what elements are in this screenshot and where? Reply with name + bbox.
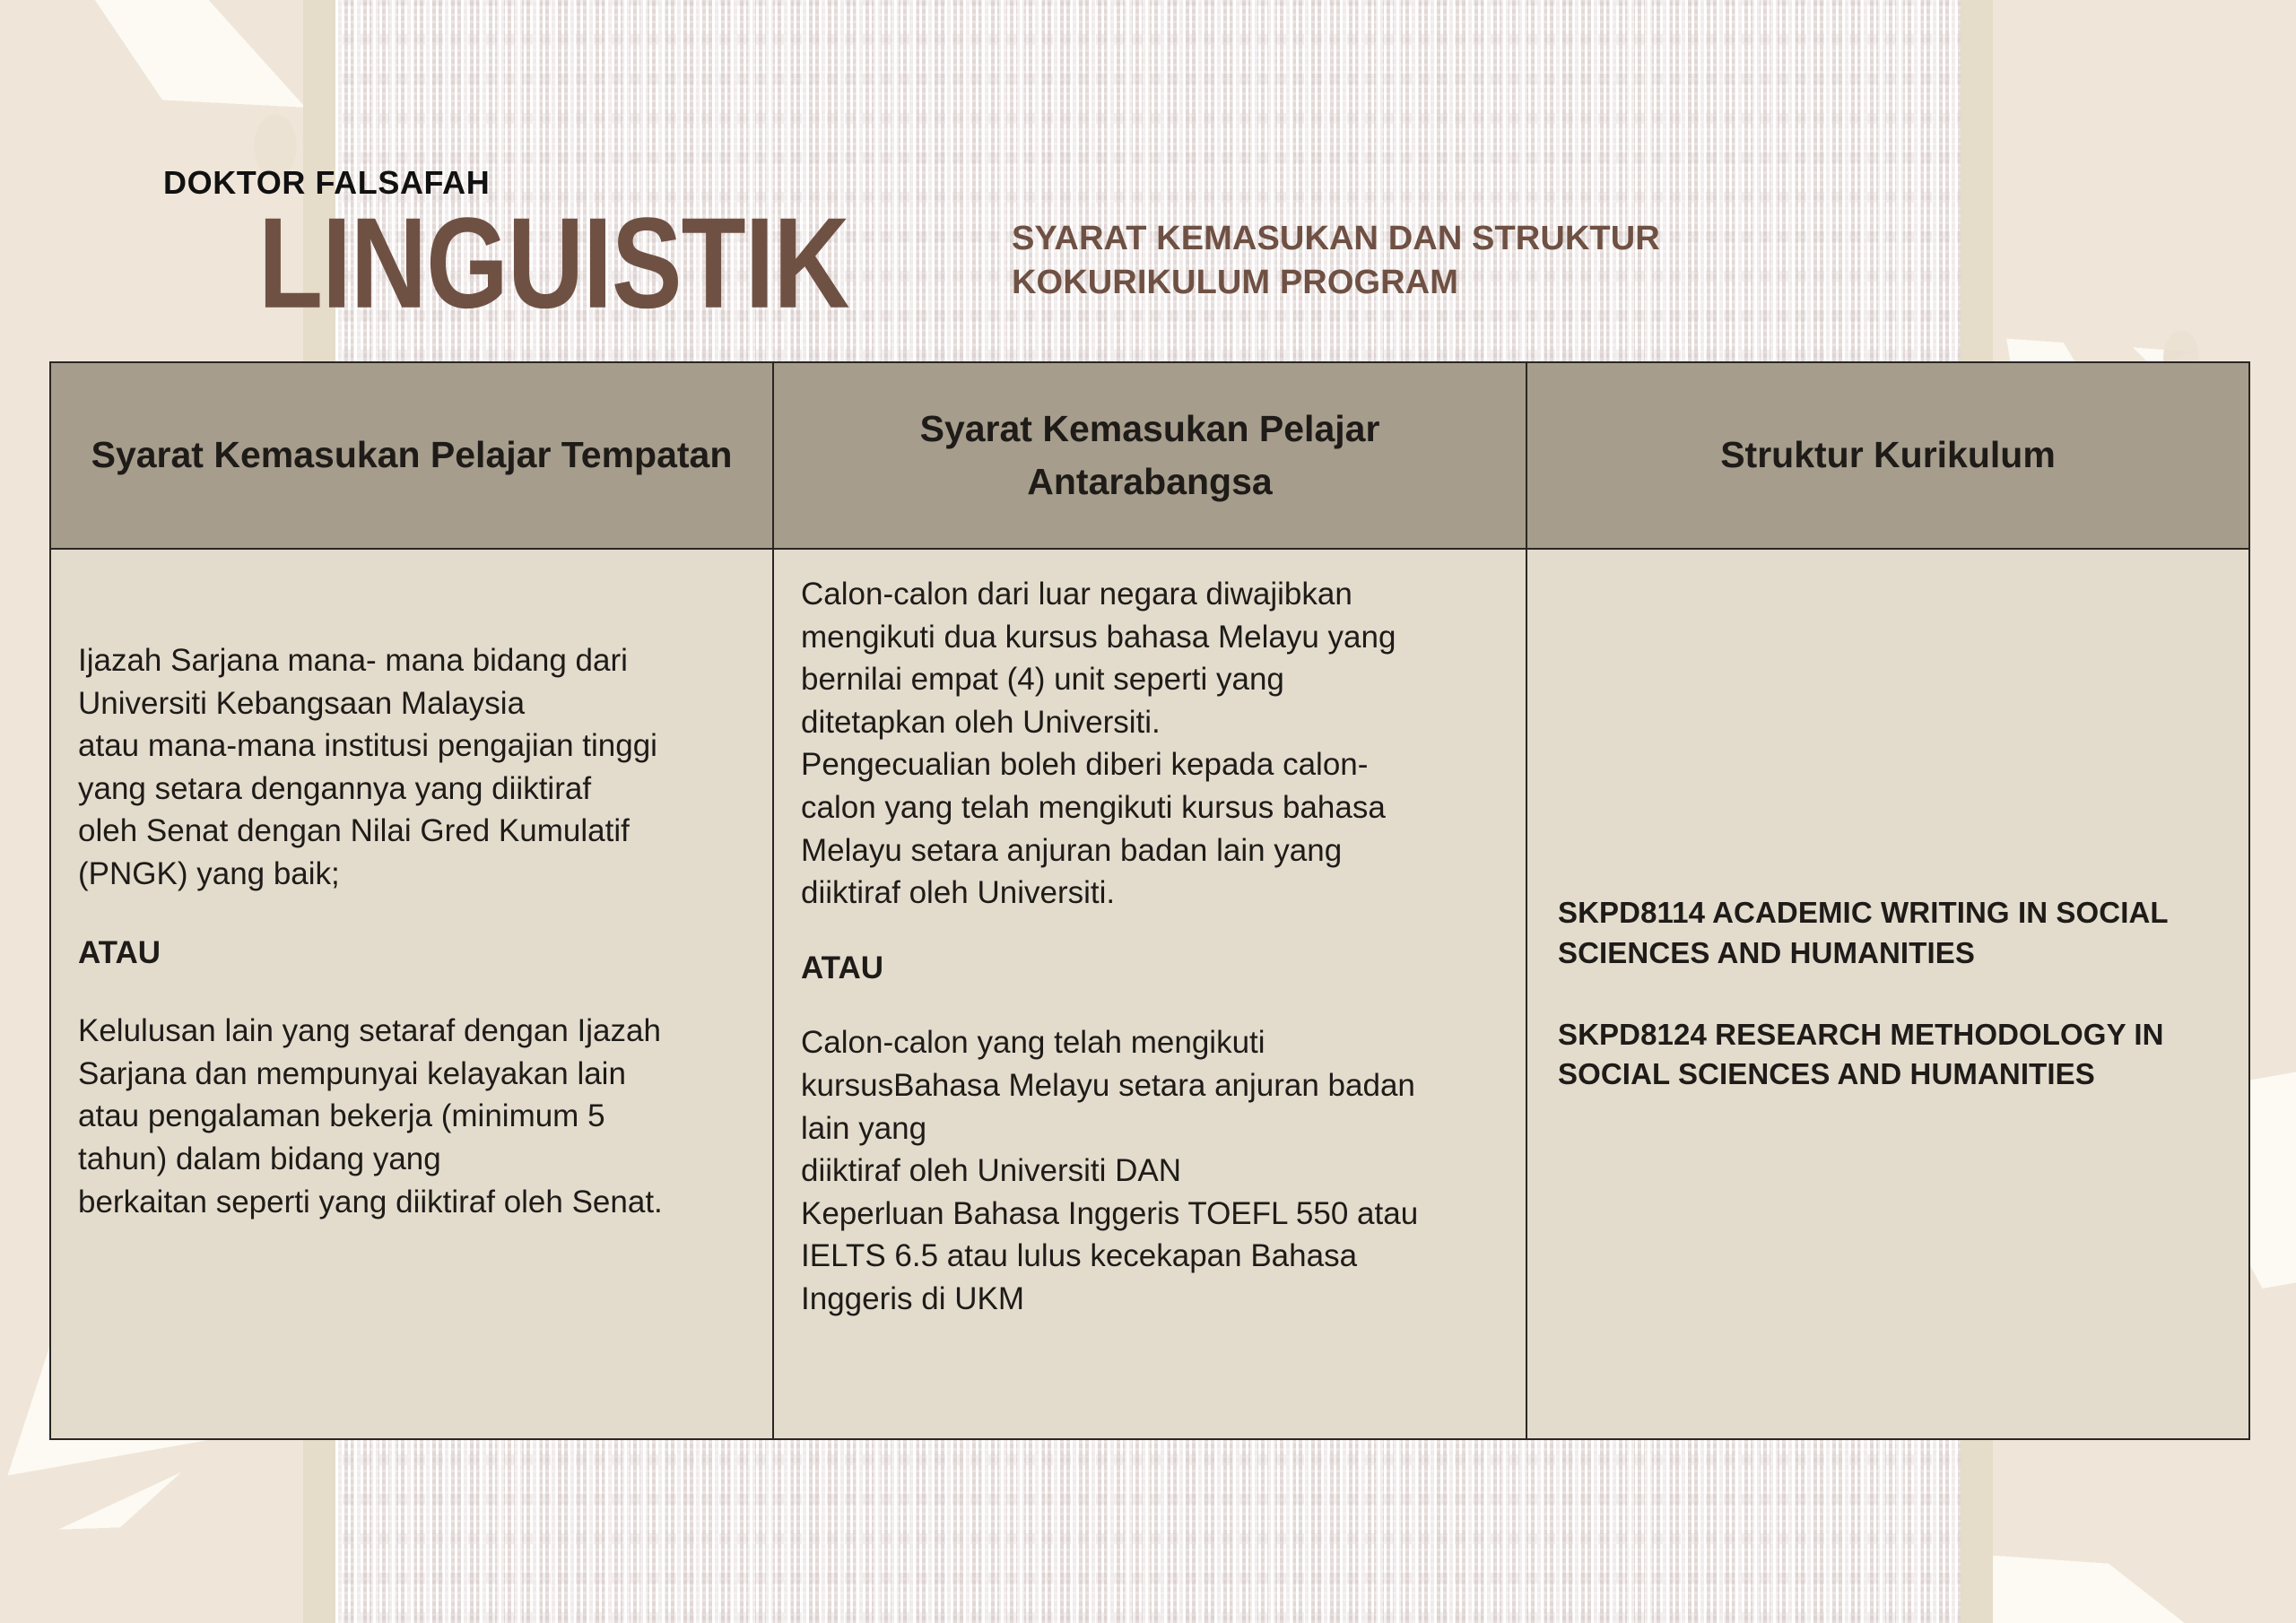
page-title: LINGUISTIK: [258, 199, 849, 328]
cell-syarat-antarabangsa: Calon-calon dari luar negara diwajibkan …: [773, 549, 1526, 1439]
antarabangsa-paragraph-1: Calon-calon dari luar negara diwajibkan …: [801, 573, 1500, 915]
antarabangsa-connector-atau: ATAU: [801, 947, 1500, 990]
tempatan-paragraph-2: Kelulusan lain yang setaraf dengan Ijaza…: [78, 1010, 747, 1223]
table-row: Ijazah Sarjana mana- mana bidang dari Un…: [50, 549, 2249, 1439]
tempatan-paragraph-1: Ijazah Sarjana mana- mana bidang dari Un…: [78, 573, 747, 896]
course-spacer: [1558, 974, 2218, 1015]
cell-struktur-kurikulum: SKPD8114 ACADEMIC WRITING IN SOCIAL SCIE…: [1526, 549, 2249, 1439]
tempatan-connector-atau: ATAU: [78, 932, 747, 975]
page-subtitle: SYARAT KEMASUKAN DAN STRUKTUR KOKURIKULU…: [1012, 217, 1873, 304]
cell-syarat-tempatan: Ijazah Sarjana mana- mana bidang dari Un…: [50, 549, 773, 1439]
table-header-row: Syarat Kemasukan Pelajar Tempatan Syarat…: [50, 362, 2249, 549]
column-header-antarabangsa: Syarat Kemasukan Pelajar Antarabangsa: [773, 362, 1526, 549]
column-header-struktur: Struktur Kurikulum: [1526, 362, 2249, 549]
poster-page: DOKTOR FALSAFAH LINGUISTIK SYARAT KEMASU…: [0, 0, 2296, 1623]
course-item-skpd8114: SKPD8114 ACADEMIC WRITING IN SOCIAL SCIE…: [1558, 893, 2218, 974]
column-header-tempatan: Syarat Kemasukan Pelajar Tempatan: [50, 362, 773, 549]
antarabangsa-paragraph-2: Calon-calon yang telah mengikuti kursusB…: [801, 1021, 1500, 1320]
course-item-skpd8124: SKPD8124 RESEARCH METHODOLOGY IN SOCIAL …: [1558, 1015, 2218, 1096]
requirements-table: Syarat Kemasukan Pelajar Tempatan Syarat…: [49, 361, 2250, 1440]
